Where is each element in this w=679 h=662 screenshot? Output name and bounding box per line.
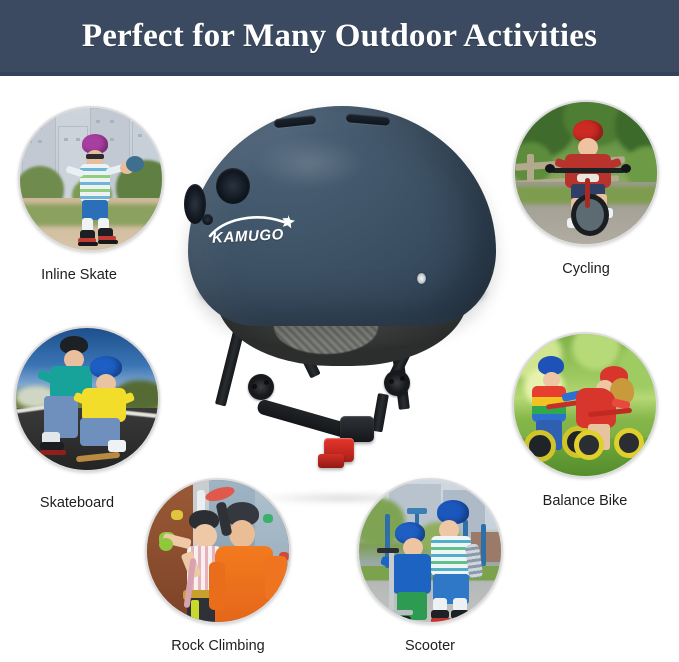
helmet-rivet [417, 273, 426, 284]
page-title: Perfect for Many Outdoor Activities [0, 0, 679, 72]
helmet-shell-highlight [234, 128, 384, 198]
scene-bike-wheel [574, 430, 604, 460]
helmet-chin-strap-right [371, 393, 388, 432]
helmet-strap-divider-left [248, 374, 274, 400]
activity-photo-inline-skate [18, 106, 164, 252]
activity-photo-cycling [513, 100, 659, 246]
helmet-shell: KAMUGO [188, 106, 496, 326]
activity-label-balance-bike: Balance Bike [470, 493, 679, 509]
scene-bike-wheel [571, 194, 609, 236]
header-banner-bottom-edge [0, 72, 679, 76]
helmet-vent-top-left [274, 115, 317, 128]
activity-photo-scooter [357, 478, 503, 624]
helmet-buckle-tab [318, 454, 344, 468]
helmet-vent-side-mid [216, 168, 250, 204]
activity-label-inline-skate: Inline Skate [0, 267, 194, 283]
helmet-vent-top-right [346, 113, 391, 126]
scene-bike-wheel [524, 430, 556, 462]
brand-logo: KAMUGO [204, 210, 324, 252]
helmet-product-image: KAMUGO [172, 98, 512, 498]
activity-label-cycling: Cycling [471, 261, 679, 277]
activity-label-rock-climbing: Rock Climbing [103, 638, 333, 654]
activity-photo-balance-bike [512, 332, 658, 478]
product-feature-graphic: Perfect for Many Outdoor Activities [0, 0, 679, 662]
helmet-strap-divider-right [384, 370, 410, 396]
activity-photo-skateboard [14, 326, 160, 472]
scene-bike-wheel [614, 428, 644, 458]
activity-photo-rock-climbing [145, 478, 291, 624]
activity-label-scooter: Scooter [315, 638, 545, 654]
